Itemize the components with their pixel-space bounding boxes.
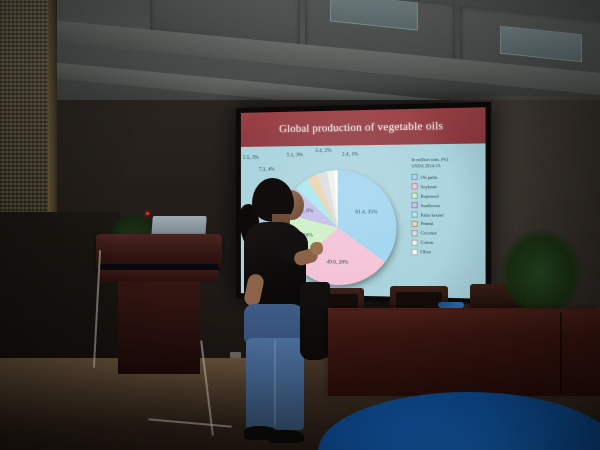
legend-swatch — [411, 230, 417, 236]
lectern-top — [96, 234, 222, 268]
legend-swatch — [411, 202, 417, 208]
jeans-seam — [274, 340, 276, 426]
shoe — [268, 430, 304, 443]
meeting-room: Global production of vegetable oils 61.4… — [0, 0, 600, 450]
legend-item-coconut: Coconut — [411, 230, 481, 237]
legend-label: Cotton — [421, 240, 434, 245]
pie-data-label: 7.3, 4% — [259, 167, 275, 173]
legend-label: Oil palm — [421, 175, 438, 180]
chart-legend: In million tons, (%) USDA 2014-15 Oil pa… — [411, 156, 481, 259]
pie-data-label: 5.5, 3% — [243, 155, 259, 161]
wall-trim — [48, 0, 57, 232]
legend-label: Coconut — [421, 231, 437, 236]
pie-data-label: 5.1, 3% — [287, 152, 303, 158]
slide-title-text: Global production of vegetable oils — [279, 120, 443, 134]
legend-item-list: Oil palmSoybeanRapeseedSunflowerPalm ker… — [411, 174, 481, 256]
legend-item-cotton: Cotton — [411, 239, 481, 246]
legend-label: Rapeseed — [421, 193, 439, 198]
legend-item-palm-kernel: Palm kernel — [411, 211, 481, 218]
legend-swatch — [411, 174, 417, 180]
pie-data-label: 2.4, 1% — [342, 151, 359, 157]
legend-label: Olive — [421, 249, 432, 254]
lectern-column — [118, 282, 200, 374]
legend-source-note: USDA 2014-15 — [411, 163, 481, 170]
legend-label: Palm kernel — [421, 212, 444, 217]
legend-label: Soybean — [421, 184, 437, 189]
textured-wall-panel — [0, 0, 52, 215]
pointing-hand — [310, 242, 323, 255]
legend-item-soybean: Soybean — [411, 183, 481, 190]
legend-note: In million tons, (%) USDA 2014-15 — [411, 156, 481, 170]
slide-title-bar: Global production of vegetable oils — [241, 107, 486, 147]
legend-swatch — [411, 183, 417, 189]
lectern-middle — [100, 270, 218, 282]
jacket-on-chair — [300, 282, 330, 360]
potted-plant — [500, 228, 582, 312]
legend-swatch — [411, 221, 417, 227]
legend-item-peanut: Peanut — [411, 221, 481, 228]
legend-item-sunflower: Sunflower — [411, 202, 481, 208]
laptop-indicator-light — [146, 212, 149, 215]
legend-label: Sunflower — [421, 203, 441, 208]
legend-item-oil-palm: Oil palm — [411, 174, 481, 181]
legend-swatch — [411, 249, 417, 255]
pie-data-label: 49.0, 28% — [327, 259, 349, 265]
pie-data-label: 61.4, 35% — [355, 209, 377, 215]
microphone — [438, 302, 464, 308]
legend-swatch — [411, 211, 417, 217]
legend-swatch — [411, 193, 417, 199]
legend-swatch — [411, 239, 417, 245]
legend-item-rapeseed: Rapeseed — [411, 193, 481, 199]
pie-data-label: 3.4, 2% — [315, 148, 331, 154]
legend-item-olive: Olive — [411, 249, 481, 256]
presentation-photo-scene: Global production of vegetable oils 61.4… — [0, 0, 600, 450]
legend-label: Peanut — [421, 221, 434, 226]
table-seam — [560, 312, 562, 394]
